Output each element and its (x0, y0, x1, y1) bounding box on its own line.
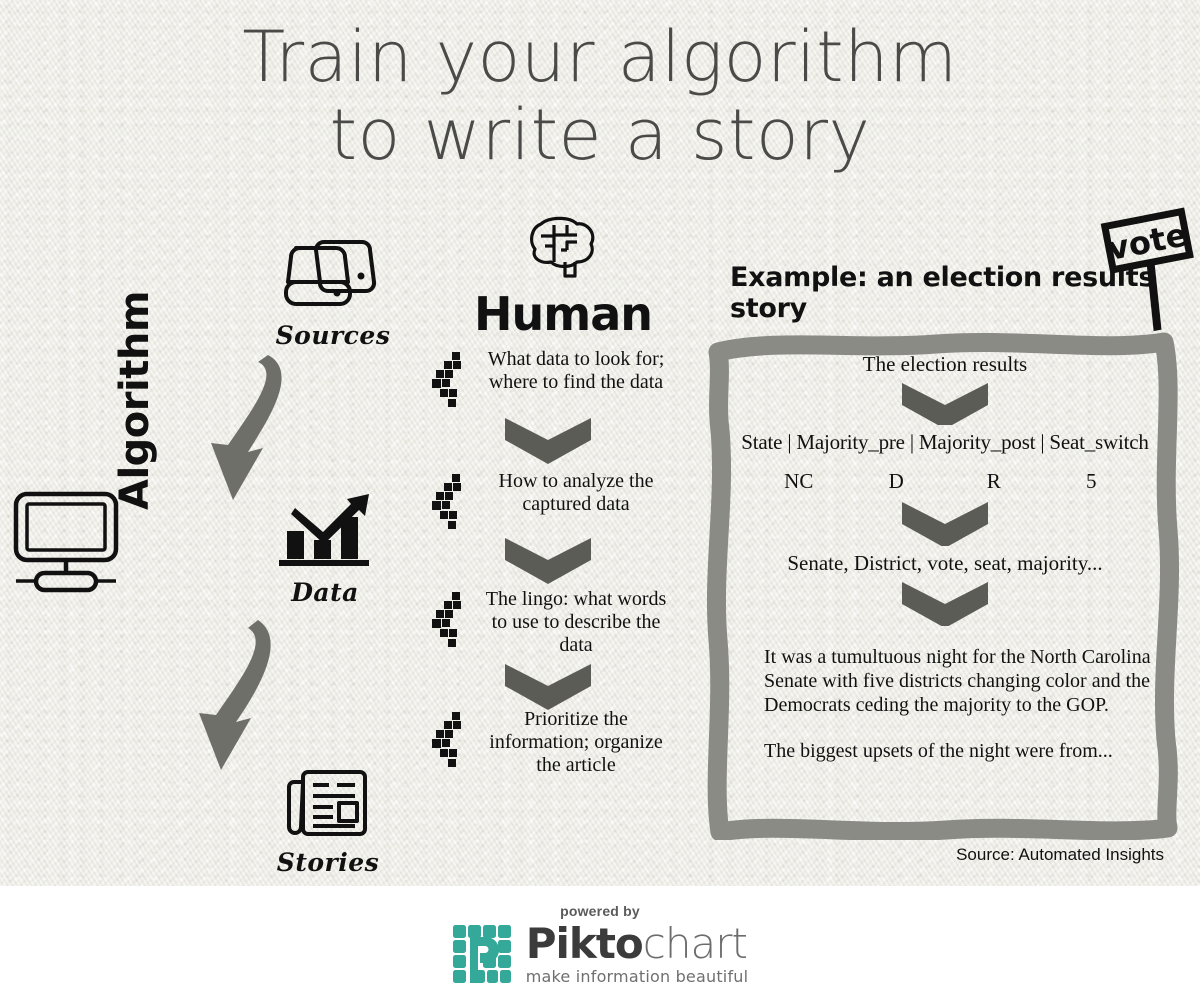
story-table-header: State | Majority_pre | Majority_post | S… (736, 430, 1154, 455)
story-vocabulary: Senate, District, vote, seat, majority..… (736, 551, 1154, 576)
footer-branding: powered by (0, 886, 1200, 1003)
brand-tagline: make information beautiful (526, 967, 749, 986)
powered-by-label: powered by (560, 903, 640, 919)
story-chevron-1 (736, 377, 1154, 425)
infographic-page: Train your algorithm to write a story So… (0, 0, 1200, 1003)
story-flow: The election results State | Majority_pr… (736, 352, 1154, 763)
story-input-label: The election results (736, 352, 1154, 377)
vote-sign-icon: vote (1095, 205, 1200, 335)
table-cell-majority-post: R (945, 469, 1043, 494)
table-cell-state: NC (750, 469, 848, 494)
story-chevron-2 (736, 494, 1154, 546)
brand-name-light: chart (643, 919, 747, 968)
table-cell-majority-pre: D (848, 469, 946, 494)
piktochart-wordmark: Piktochart make information beautiful (526, 923, 749, 986)
table-cell-seat-switch: 5 (1043, 469, 1141, 494)
story-paragraph-1: It was a tumultuous night for the North … (736, 645, 1154, 717)
story-table-row: NC D R 5 (736, 469, 1154, 494)
story-chevron-3 (736, 576, 1154, 626)
piktochart-logo-icon (452, 924, 514, 986)
story-paragraph-2: The biggest upsets of the night were fro… (736, 739, 1154, 763)
source-credit: Source: Automated Insights (706, 845, 1164, 865)
brand-name: Piktochart (526, 923, 749, 965)
piktochart-brand[interactable]: Piktochart make information beautiful (452, 923, 749, 986)
brand-name-bold: Pikto (526, 919, 643, 968)
